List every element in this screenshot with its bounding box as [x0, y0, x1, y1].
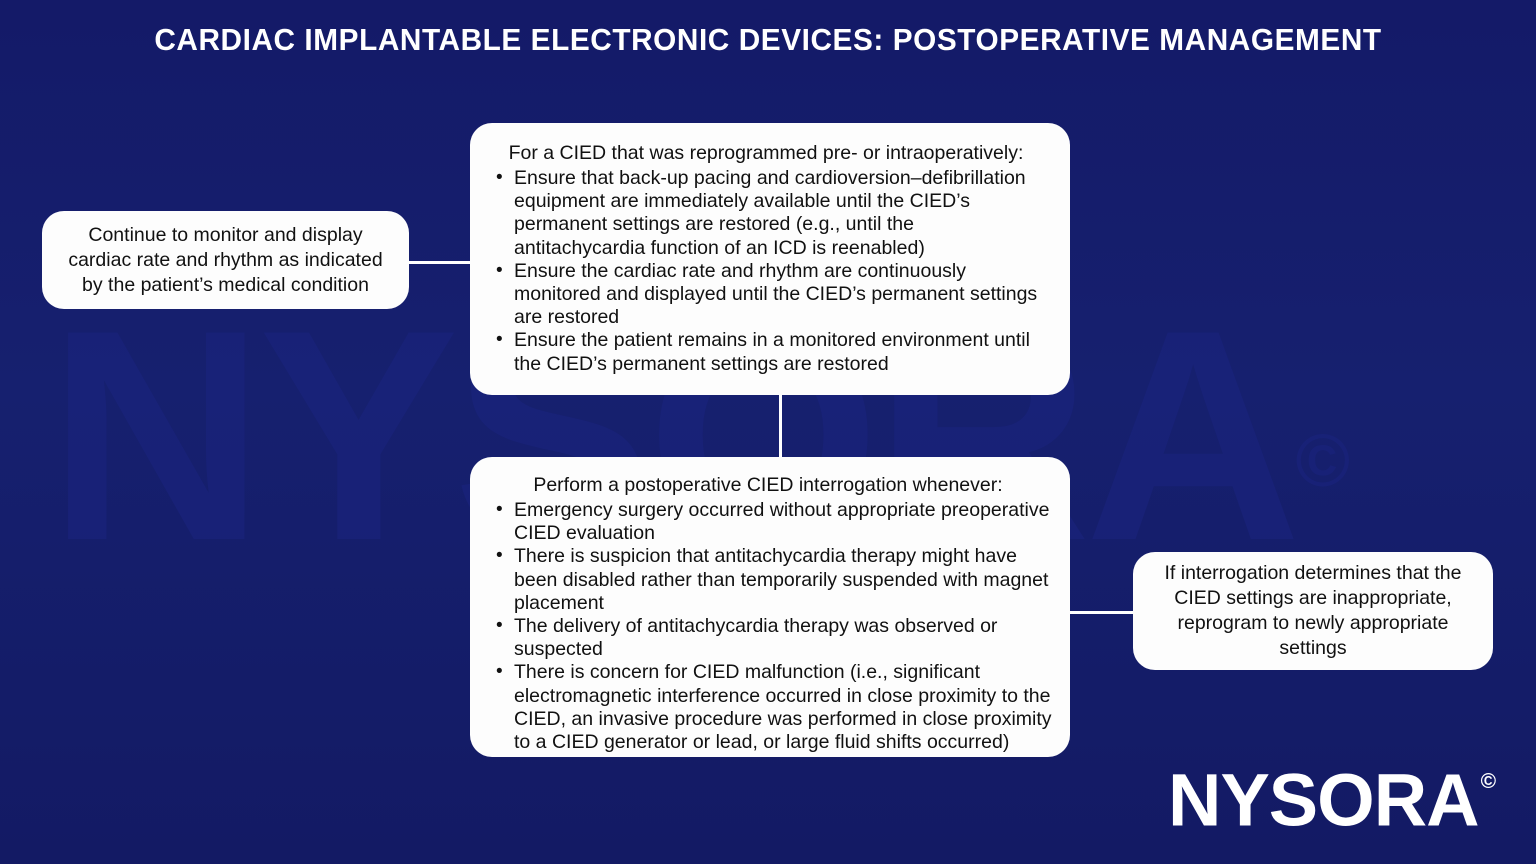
box-reprogrammed-cied: For a CIED that was reprogrammed pre- or… — [470, 123, 1070, 395]
box-reprogram-settings: If interrogation determines that the CIE… — [1133, 552, 1493, 670]
box-reprogrammed-cied-heading: For a CIED that was reprogrammed pre- or… — [484, 141, 1048, 167]
list-item: There is suspicion that antitachycardia … — [484, 545, 1052, 615]
nysora-logo-text: NYSORA — [1168, 759, 1479, 842]
copyright-icon: © — [1481, 770, 1496, 793]
box-reprogram-settings-text: If interrogation determines that the CIE… — [1151, 561, 1475, 661]
nysora-logo: NYSORA© — [1168, 757, 1494, 838]
connector-top-to-bottom — [779, 392, 782, 460]
box-postoperative-interrogation-heading: Perform a postoperative CIED interrogati… — [484, 473, 1052, 499]
list-item: The delivery of antitachycardia therapy … — [484, 615, 1052, 661]
connector-left-to-top — [404, 261, 476, 264]
box-postoperative-interrogation-list: Emergency surgery occurred without appro… — [484, 499, 1052, 754]
slide-canvas: NYSORA© CARDIAC IMPLANTABLE ELECTRONIC D… — [0, 0, 1536, 864]
box-reprogrammed-cied-list: Ensure that back-up pacing and cardiover… — [484, 167, 1048, 376]
list-item: Ensure the patient remains in a monitore… — [484, 329, 1048, 375]
box-postoperative-interrogation: Perform a postoperative CIED interrogati… — [470, 457, 1070, 757]
watermark-copyright-icon: © — [1296, 419, 1351, 502]
list-item: There is concern for CIED malfunction (i… — [484, 661, 1052, 754]
box-monitor-display-text: Continue to monitor and display cardiac … — [58, 223, 393, 298]
page-title: CARDIAC IMPLANTABLE ELECTRONIC DEVICES: … — [31, 22, 1506, 58]
connector-bottom-to-right — [1060, 611, 1138, 614]
box-monitor-display: Continue to monitor and display cardiac … — [42, 211, 409, 309]
list-item: Ensure that back-up pacing and cardiover… — [484, 167, 1048, 260]
list-item: Emergency surgery occurred without appro… — [484, 499, 1052, 545]
list-item: Ensure the cardiac rate and rhythm are c… — [484, 260, 1048, 330]
